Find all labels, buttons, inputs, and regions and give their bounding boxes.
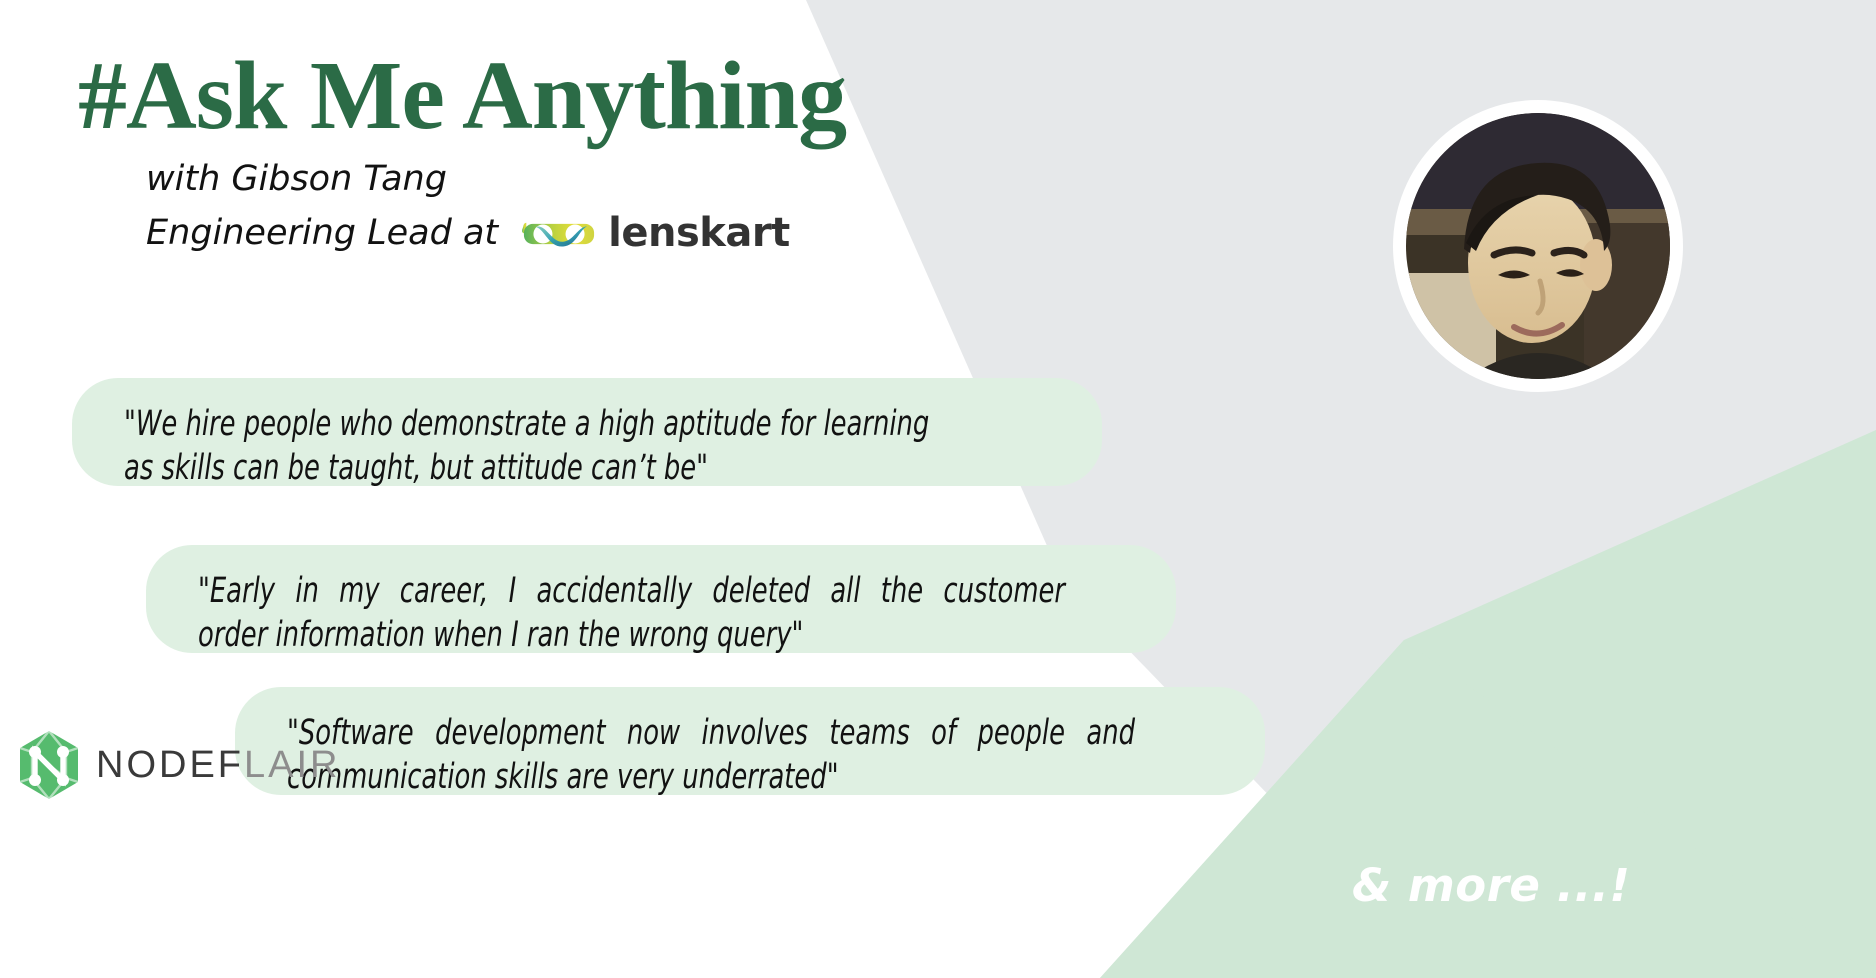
quote-line: "Early in my career, I accidentally dele… <box>198 569 967 613</box>
nodeflair-word-bold: NODEF <box>96 744 244 787</box>
speaker-avatar <box>1393 100 1683 392</box>
nodeflair-logo: NODEFLAIR <box>18 730 340 800</box>
quote-line: "Software development now involves teams… <box>287 711 1056 755</box>
page-title: #Ask Me Anything <box>78 46 1058 148</box>
more-teaser-text: & more ...! <box>1352 859 1630 912</box>
nodeflair-word-light: LAIR <box>244 744 340 787</box>
quote-line: communication skills are very underrated… <box>287 755 1056 799</box>
quote-line: "We hire people who demonstrate a high a… <box>124 402 893 446</box>
speaker-role-label: Engineering Lead at <box>146 208 498 258</box>
lenskart-logo: lenskart <box>520 205 790 263</box>
quote-bubble: "We hire people who demonstrate a high a… <box>72 378 1102 486</box>
ama-banner: #Ask Me Anything with Gibson Tang Engine… <box>0 0 1876 978</box>
quote-bubble: "Software development now involves teams… <box>235 687 1265 795</box>
portrait-illustration <box>1406 113 1670 379</box>
banner-header: #Ask Me Anything with Gibson Tang Engine… <box>78 46 1058 262</box>
speaker-role-line: Engineering Lead at <box>146 204 1058 262</box>
speaker-photo <box>1406 113 1670 379</box>
speaker-name-label: with Gibson Tang <box>146 154 447 204</box>
speaker-name-line: with Gibson Tang <box>146 154 1058 204</box>
quote-line: as skills can be taught, but attitude ca… <box>124 446 893 490</box>
speaker-info: with Gibson Tang Engineering Lead at <box>78 154 1058 262</box>
nodeflair-wordmark: NODEFLAIR <box>96 744 340 787</box>
lenskart-glasses-icon <box>520 212 598 256</box>
nodeflair-hexagon-icon <box>18 730 80 800</box>
quote-line: order information when I ran the wrong q… <box>198 613 967 657</box>
lenskart-wordmark: lenskart <box>608 205 790 263</box>
quote-bubble: "Early in my career, I accidentally dele… <box>146 545 1176 653</box>
